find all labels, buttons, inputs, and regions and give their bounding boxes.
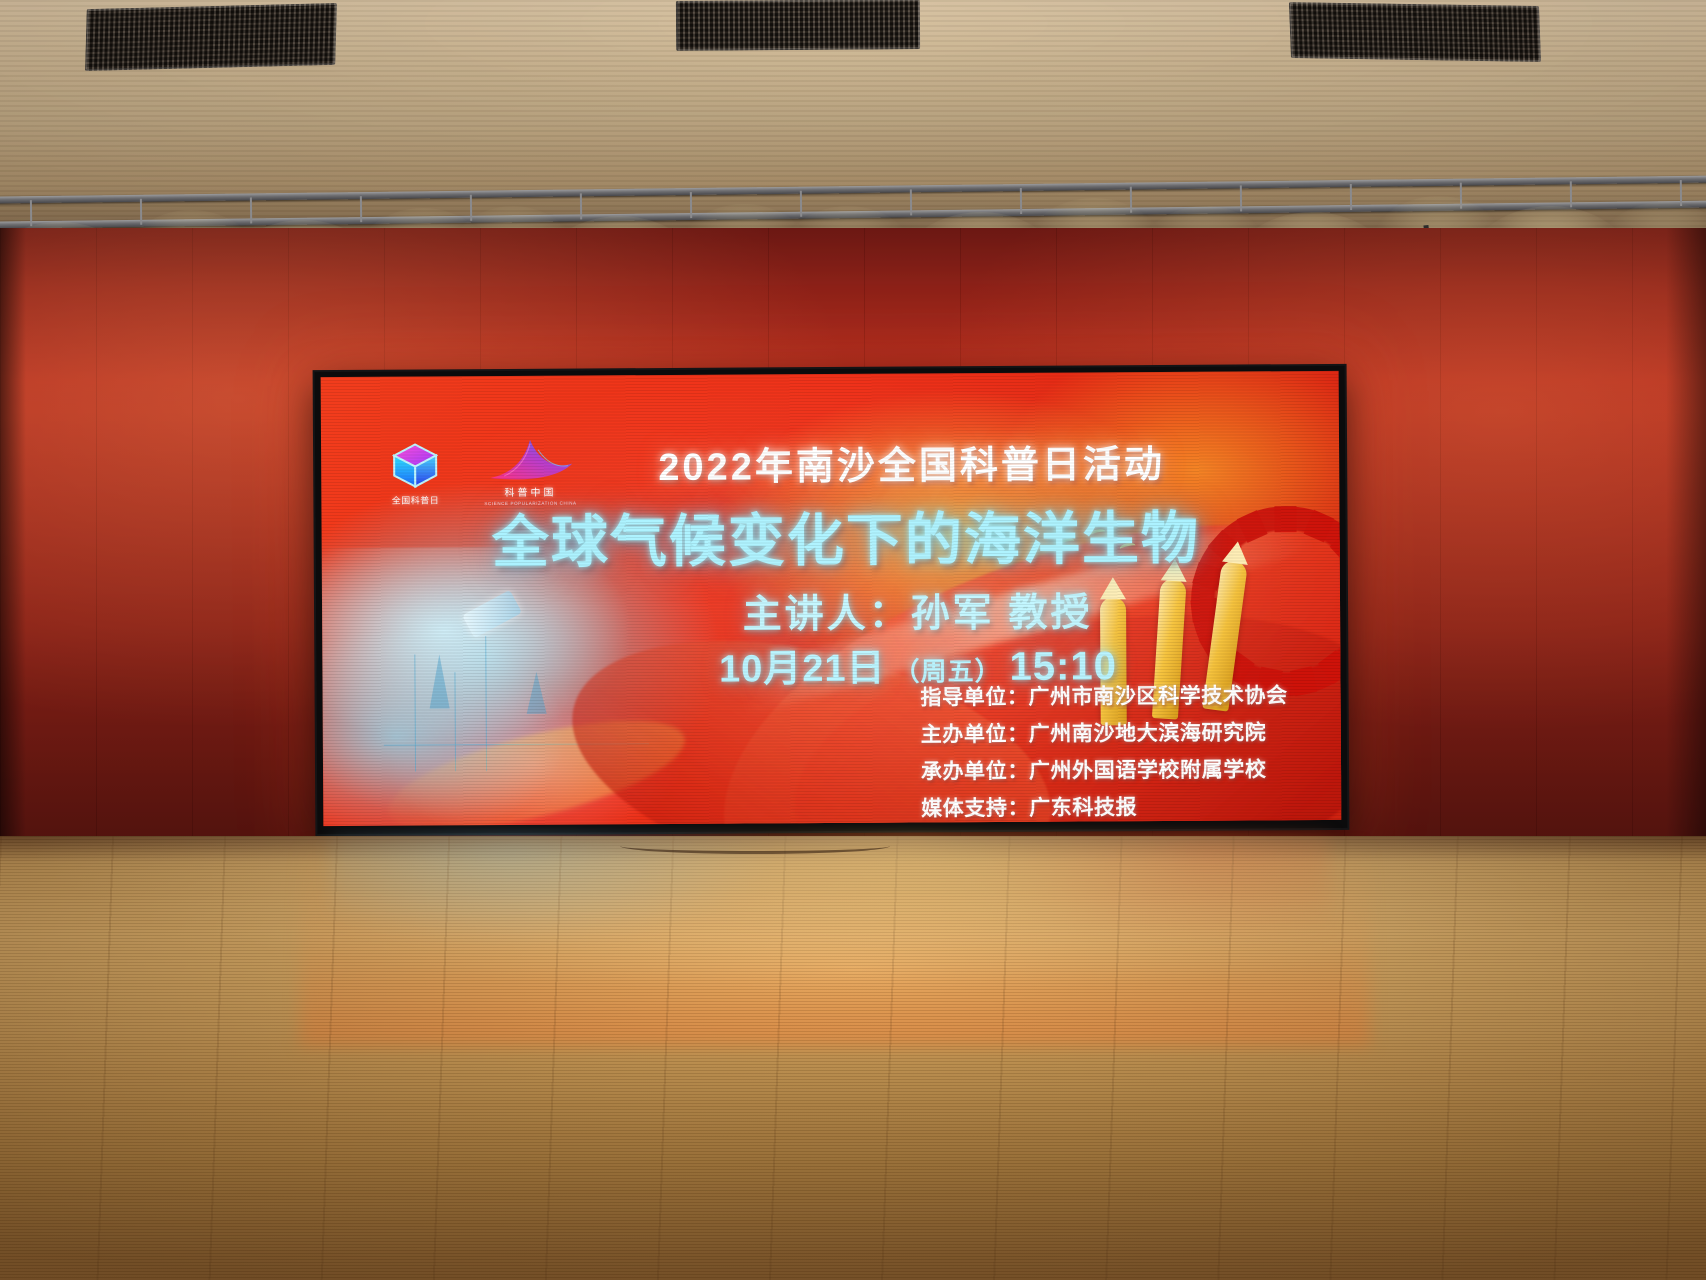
credit-line: 主办单位：广州南沙地大滨海研究院 <box>921 716 1288 748</box>
led-screen-display: 全国科普日 <box>321 371 1342 826</box>
credit-line: 媒体支持：广东科技报 <box>921 790 1288 822</box>
floor-vignette <box>0 836 1706 1280</box>
event-name: 2022年南沙全国科普日活动 <box>321 432 1339 493</box>
wall-left-shadow <box>0 228 26 838</box>
credit-line: 承办单位：广州外国语学校附属学校 <box>921 753 1288 785</box>
screen-cable <box>620 838 890 854</box>
stage-floor <box>0 836 1706 1280</box>
lecture-title: 全球气候变化下的海洋生物 <box>321 492 1339 580</box>
credits-block: 指导单位：广州市南沙区科学技术协会 主办单位：广州南沙地大滨海研究院 承办单位：… <box>920 679 1288 822</box>
speaker-line: 主讲人：孙军 教授 <box>322 580 1340 642</box>
led-screen-bezel: 全国科普日 <box>315 366 1348 834</box>
stage-photo-scene: 全国科普日 <box>0 0 1706 1280</box>
wall-right-shadow <box>1666 228 1706 838</box>
credit-line: 指导单位：广州市南沙区科学技术协会 <box>920 679 1287 711</box>
event-date: 10月21日 <box>719 636 886 692</box>
